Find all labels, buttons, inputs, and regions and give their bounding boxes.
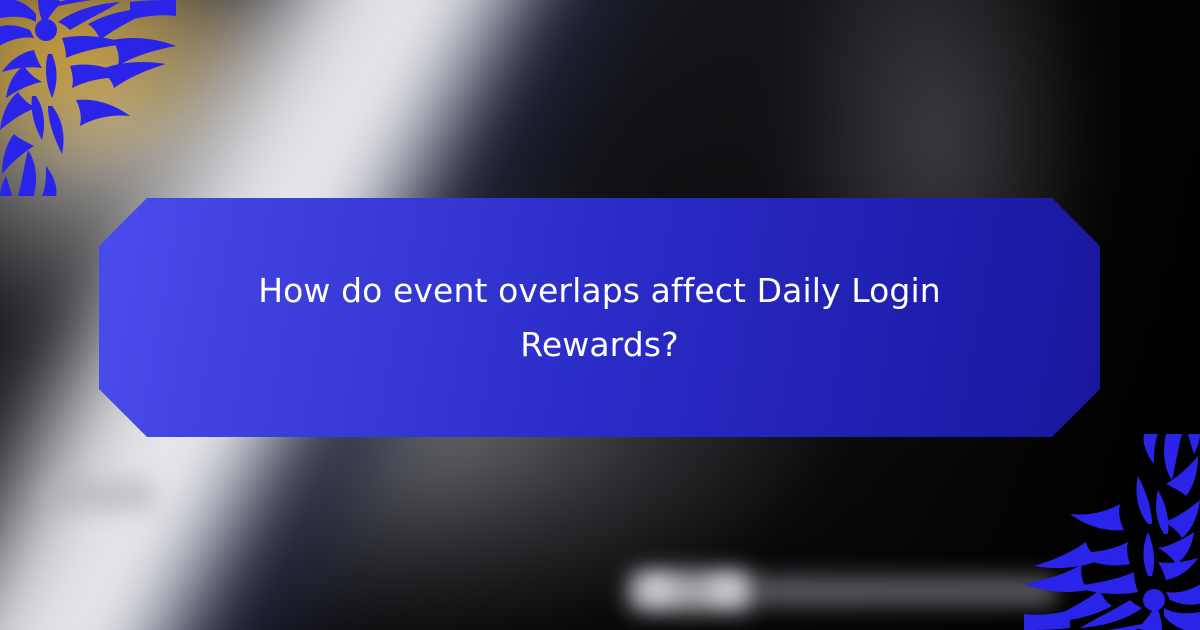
- background-blur-highlight: [712, 578, 740, 600]
- background-blur-highlight: [644, 578, 672, 600]
- banner-title: How do event overlaps affect Daily Login…: [240, 264, 960, 371]
- social-card-canvas: How do event overlaps affect Daily Login…: [0, 0, 1200, 630]
- background-blur-shape: [46, 478, 156, 512]
- background-blur-bar: [756, 576, 1056, 606]
- headline-banner: How do event overlaps affect Daily Login…: [99, 198, 1100, 437]
